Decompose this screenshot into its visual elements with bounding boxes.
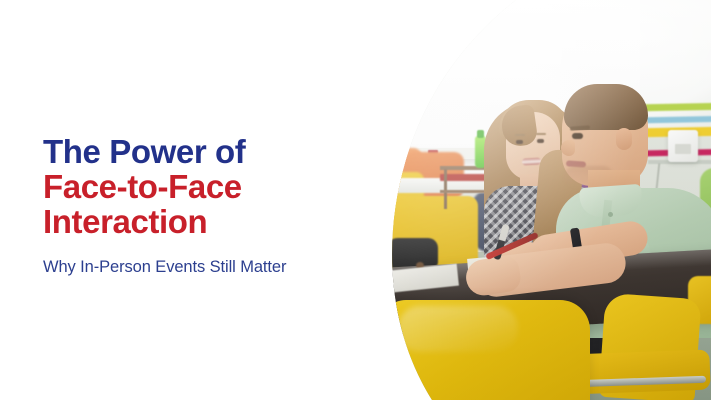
woman-brow-right <box>536 133 546 135</box>
subheadline: Why In-Person Events Still Matter <box>43 257 373 277</box>
hero-photo <box>380 0 711 400</box>
man-shirt-button-upper <box>608 212 613 217</box>
chair-highlight <box>398 306 518 352</box>
woman-smile <box>522 158 541 166</box>
green-bottle-cap <box>477 130 484 138</box>
slide-canvas: The Power of Face-to-Face Interaction Wh… <box>0 0 711 400</box>
bar-cart-leg-left <box>444 169 447 209</box>
title-block: The Power of Face-to-Face Interaction Wh… <box>43 134 373 277</box>
man-hair <box>564 84 648 130</box>
woman-eye-left <box>516 140 523 144</box>
man-ear <box>616 128 632 150</box>
woman-eye-right <box>537 139 544 143</box>
white-wall-device <box>668 130 698 162</box>
headline-line-1: The Power of <box>43 134 373 169</box>
man-eye <box>572 133 583 139</box>
woman-brow-left <box>515 134 525 136</box>
black-object-on-table <box>384 238 438 268</box>
man-nose <box>561 140 575 156</box>
headline-line-3: Interaction <box>43 204 373 239</box>
yellow-chair-seat <box>569 350 710 395</box>
photo-scene <box>380 0 711 400</box>
headline-line-2: Face-to-Face <box>43 169 373 204</box>
